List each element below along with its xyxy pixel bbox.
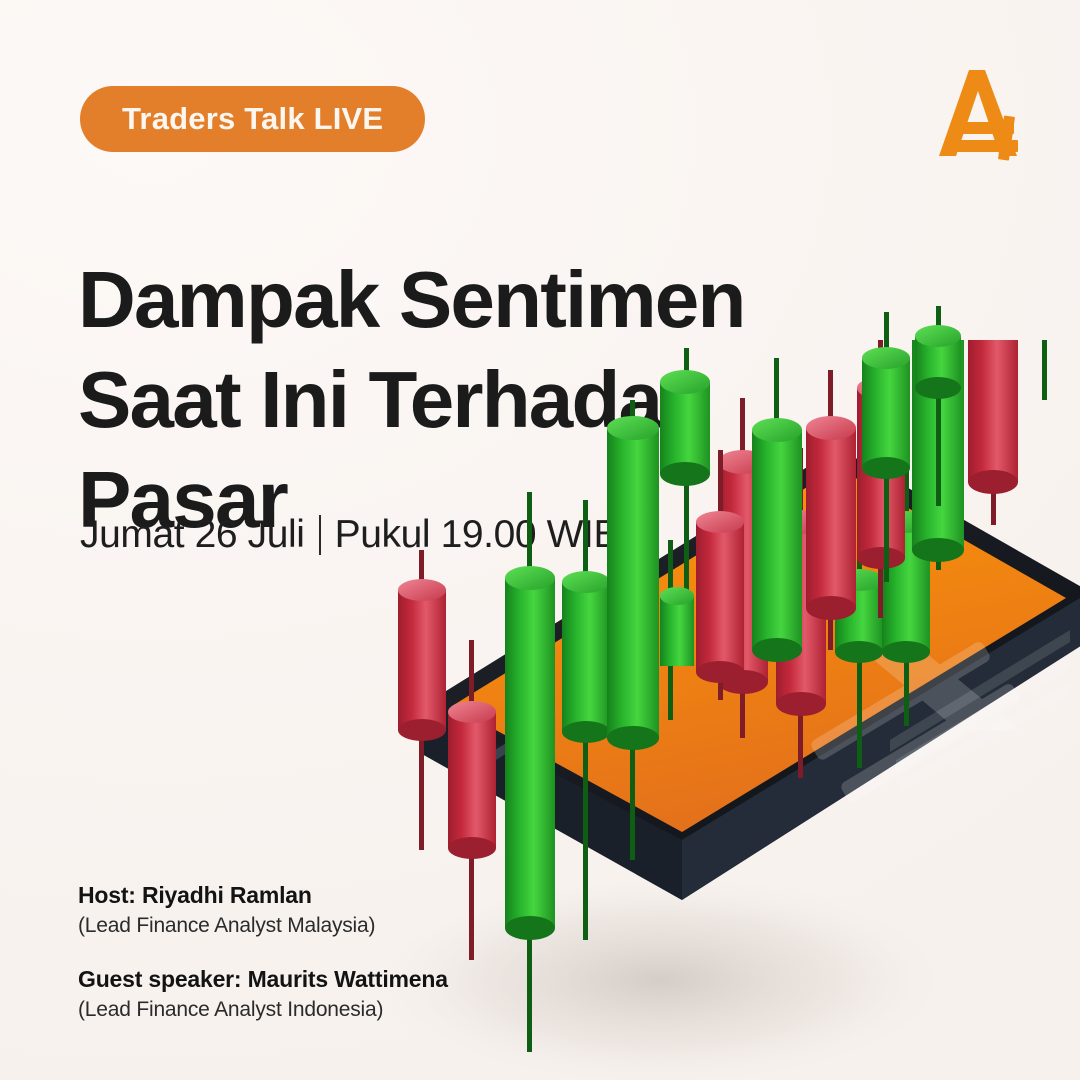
host-role: (Lead Finance Analyst Malaysia) (78, 914, 448, 938)
phone-shadow (360, 870, 960, 1080)
candle-7 (718, 398, 768, 738)
traders-talk-live-badge[interactable]: Traders Talk LIVE (80, 86, 425, 152)
a-currency-logo-icon (939, 70, 1018, 161)
poster-canvas: Traders Talk LIVE Dampak Sentimen Saat I… (0, 0, 1080, 1080)
brand-logo (922, 58, 1032, 168)
schedule-separator (319, 515, 321, 555)
guest-role: (Lead Finance Analyst Indonesia) (78, 998, 448, 1022)
speakers-block: Host: Riyadhi Ramlan (Lead Finance Analy… (78, 882, 448, 1022)
badge-label: Traders Talk LIVE (122, 101, 383, 137)
schedule-date: Jumat 26 Juli (80, 513, 305, 557)
host-entry: Host: Riyadhi Ramlan (Lead Finance Analy… (78, 882, 448, 938)
candle-1 (398, 550, 446, 850)
candle-13 (968, 340, 1018, 525)
guest-name: Guest speaker: Maurits Wattimena (78, 966, 448, 993)
host-name: Host: Riyadhi Ramlan (78, 882, 448, 909)
candle-14 (1020, 340, 1068, 400)
candle-12 (912, 340, 964, 570)
guest-entry: Guest speaker: Maurits Wattimena (Lead F… (78, 966, 448, 1022)
